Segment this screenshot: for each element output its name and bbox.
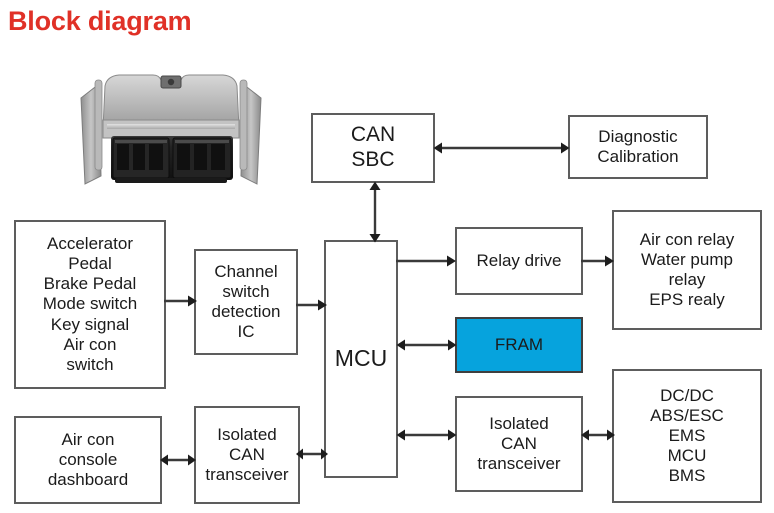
arrow-relay-drive-to-relays — [581, 252, 615, 270]
arrow-mcu-to-fram — [396, 336, 457, 354]
arrow-mcu-to-isolated-can-right — [396, 426, 457, 444]
block-mcu[interactable]: MCU — [324, 240, 398, 478]
block-inputs[interactable]: Accelerator Pedal Brake Pedal Mode switc… — [14, 220, 166, 389]
arrow-channel-switch-to-mcu — [296, 296, 328, 314]
block-relay-drive[interactable]: Relay drive — [455, 227, 583, 295]
block-air-con-console-dashboard[interactable]: Air con console dashboard — [14, 416, 162, 504]
block-diagnostic-calibration[interactable]: Diagnostic Calibration — [568, 115, 708, 179]
arrow-can-sbc-to-diagnostic — [433, 139, 570, 157]
arrow-isolated-can-right-to-modules — [581, 426, 615, 444]
block-modules[interactable]: DC/DC ABS/ESC EMS MCU BMS — [612, 369, 762, 503]
block-channel-switch-detection-ic[interactable]: Channel switch detection IC — [194, 249, 298, 355]
block-diagram-page: Block diagram — [0, 0, 774, 513]
page-title: Block diagram — [8, 6, 191, 37]
block-can-sbc[interactable]: CAN SBC — [311, 113, 435, 183]
block-fram[interactable]: FRAM — [455, 317, 583, 373]
arrow-mcu-to-relay-drive — [396, 252, 457, 270]
arrow-mcu-to-isolated-can-left — [296, 445, 328, 463]
ecu-module-photo — [75, 58, 267, 190]
arrow-inputs-to-channel-switch — [164, 292, 198, 310]
arrow-air-con-console-to-isolated-can-left — [160, 451, 196, 469]
block-relays[interactable]: Air con relay Water pump relay EPS realy — [612, 210, 762, 330]
block-isolated-can-transceiver-left[interactable]: Isolated CAN transceiver — [194, 406, 300, 504]
block-isolated-can-transceiver-right[interactable]: Isolated CAN transceiver — [455, 396, 583, 492]
arrow-mcu-to-can-sbc — [366, 181, 384, 243]
